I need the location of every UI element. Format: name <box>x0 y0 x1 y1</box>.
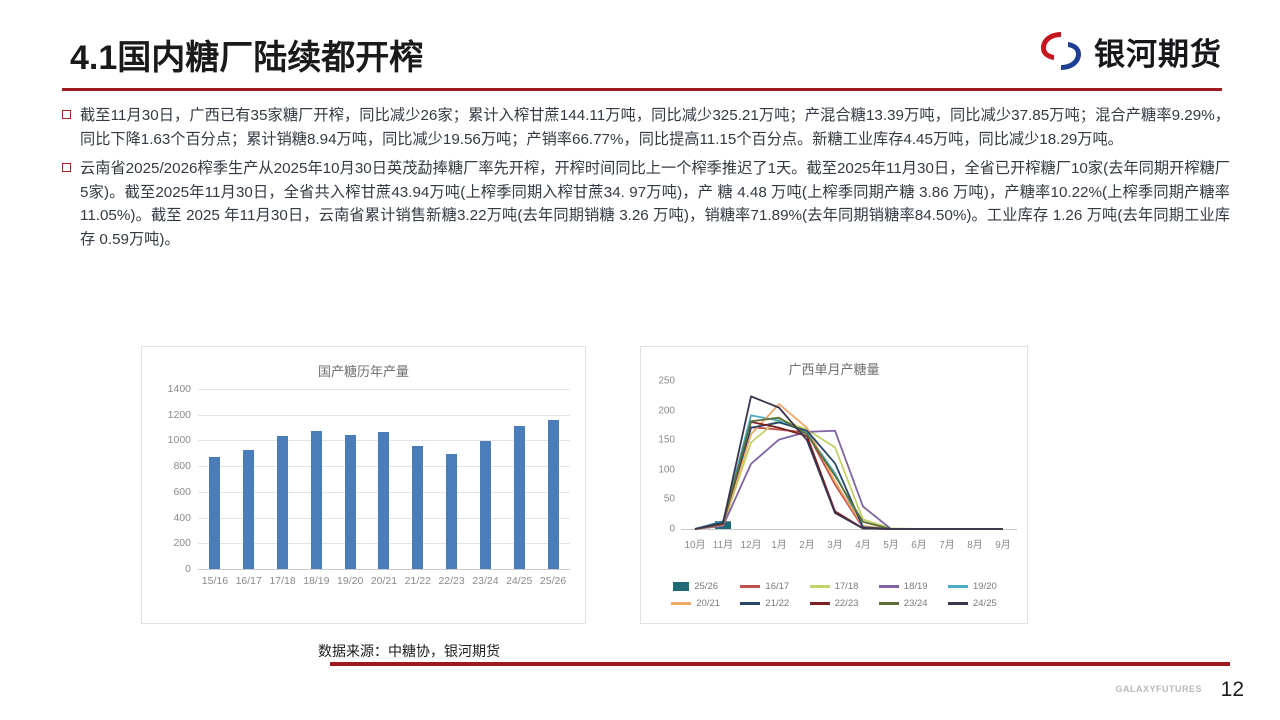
bullet-item: 截至11月30日，广西已有35家糖厂开榨，同比减少26家；累计入榨甘蔗144.1… <box>62 104 1230 151</box>
bar <box>378 432 389 569</box>
line-chart-plot-area: 050100150200250 10月11月12月1月2月3月4月5月6月7月8… <box>681 381 1017 529</box>
x-axis-tick-label: 18/19 <box>299 575 333 587</box>
y-axis-tick-label: 250 <box>658 376 675 387</box>
legend-swatch-icon <box>671 602 691 605</box>
bar-slot <box>469 389 503 569</box>
bar-slot <box>435 389 469 569</box>
slide-header: 4.1国内糖厂陆续都开榨 银河期货 <box>0 0 1280 92</box>
legend-item[interactable]: 18/19 <box>869 581 938 592</box>
bar-slot <box>367 389 401 569</box>
legend-item[interactable]: 19/20 <box>938 581 1007 592</box>
legend-swatch-icon <box>740 585 760 588</box>
y-axis-tick-label: 150 <box>658 435 675 446</box>
chart-legend: 25/2616/1717/1818/1919/2020/2121/2222/23… <box>661 581 1007 609</box>
bar <box>412 446 423 569</box>
x-axis-tick-label: 15/16 <box>198 575 232 587</box>
bar <box>277 436 288 569</box>
x-axis-tick-label: 21/22 <box>401 575 435 587</box>
legend-item[interactable]: 20/21 <box>661 598 730 609</box>
bullet-text: 截至11月30日，广西已有35家糖厂开榨，同比减少26家；累计入榨甘蔗144.1… <box>80 104 1230 151</box>
x-axis-labels: 10月11月12月1月2月3月4月5月6月7月8月9月 <box>681 536 1017 551</box>
x-axis-tick-label: 11月 <box>709 536 737 551</box>
bar <box>480 441 491 569</box>
legend-label: 20/21 <box>696 598 720 609</box>
chart-domestic-sugar-annual-output: 国产糖历年产量 0200400600800100012001400 15/161… <box>141 346 586 624</box>
legend-item[interactable]: 24/25 <box>938 598 1007 609</box>
bar-series <box>198 389 570 569</box>
bar-slot <box>266 389 300 569</box>
x-axis-tick-label: 19/20 <box>333 575 367 587</box>
x-axis-tick-label: 17/18 <box>266 575 300 587</box>
legend-label: 22/23 <box>835 598 859 609</box>
legend-item[interactable]: 22/23 <box>799 598 868 609</box>
legend-label: 25/26 <box>694 581 718 592</box>
legend-item[interactable]: 17/18 <box>799 581 868 592</box>
legend-item[interactable]: 25/26 <box>661 581 730 592</box>
x-axis-tick-label: 7月 <box>933 536 961 551</box>
legend-item[interactable]: 16/17 <box>730 581 799 592</box>
footer-divider <box>330 662 1230 666</box>
x-axis-tick-label: 3月 <box>821 536 849 551</box>
legend-swatch-icon <box>740 602 760 605</box>
x-axis-tick-label: 12月 <box>737 536 765 551</box>
bar-slot <box>502 389 536 569</box>
legend-swatch-icon <box>948 585 968 588</box>
line-series-18-19 <box>695 431 1003 529</box>
bar-slot <box>333 389 367 569</box>
bar <box>548 420 559 569</box>
bar <box>446 454 457 569</box>
square-bullet-icon <box>62 110 71 119</box>
bullet-item: 云南省2025/2026榨季生产从2025年10月30日英茂勐捧糖厂率先开榨，开… <box>62 157 1230 251</box>
square-bullet-icon <box>62 163 71 172</box>
x-axis-tick-label: 5月 <box>877 536 905 551</box>
bullet-text: 云南省2025/2026榨季生产从2025年10月30日英茂勐捧糖厂率先开榨，开… <box>80 157 1230 251</box>
x-axis-tick-label: 22/23 <box>435 575 469 587</box>
y-axis-tick-label: 0 <box>669 524 675 535</box>
bar <box>209 457 220 569</box>
y-axis-tick-label: 100 <box>658 464 675 475</box>
page-title: 4.1国内糖厂陆续都开榨 <box>70 30 423 79</box>
legend-swatch-icon <box>948 602 968 605</box>
y-axis-tick-label: 400 <box>173 512 191 524</box>
page-number: 12 <box>1221 678 1244 702</box>
legend-swatch-icon <box>810 602 830 605</box>
gridline: 0 <box>198 569 570 570</box>
chart-title: 广西单月产糖量 <box>641 359 1027 378</box>
line-series <box>681 381 1017 529</box>
legend-label: 24/25 <box>973 598 997 609</box>
legend-swatch-icon <box>879 585 899 588</box>
bar-slot <box>232 389 266 569</box>
bar-slot <box>299 389 333 569</box>
x-axis-tick-label: 9月 <box>989 536 1017 551</box>
header-divider <box>62 88 1222 91</box>
x-axis-tick-label: 23/24 <box>469 575 503 587</box>
y-axis-tick-label: 200 <box>173 537 191 549</box>
bar-slot <box>198 389 232 569</box>
y-axis-tick-label: 50 <box>664 494 675 505</box>
body-content: 截至11月30日，广西已有35家糖厂开榨，同比减少26家；累计入榨甘蔗144.1… <box>62 104 1230 257</box>
x-axis-tick-label: 1月 <box>765 536 793 551</box>
legend-label: 23/24 <box>904 598 928 609</box>
chart-title: 国产糖历年产量 <box>142 361 585 380</box>
x-axis-tick-label: 4月 <box>849 536 877 551</box>
brand-name: 银河期货 <box>1094 29 1222 74</box>
x-axis-tick-label: 20/21 <box>367 575 401 587</box>
bar-slot <box>401 389 435 569</box>
y-axis-tick-label: 1200 <box>168 409 191 421</box>
chart-guangxi-monthly-sugar-output: 广西单月产糖量 050100150200250 10月11月12月1月2月3月4… <box>640 346 1028 624</box>
x-axis-tick-label: 2月 <box>793 536 821 551</box>
x-axis-tick-label: 24/25 <box>502 575 536 587</box>
y-axis-tick-label: 1000 <box>168 434 191 446</box>
galaxy-futures-logo-icon <box>1038 28 1084 74</box>
x-axis-tick-label: 8月 <box>961 536 989 551</box>
legend-label: 19/20 <box>973 581 997 592</box>
legend-swatch-icon <box>673 582 689 591</box>
data-source-note: 数据来源：中糖协，银河期货 <box>318 641 500 661</box>
bar <box>514 426 525 569</box>
x-axis-labels: 15/1616/1717/1818/1919/2020/2121/2222/23… <box>198 575 570 587</box>
watermark-text: GALAXYFUTURES <box>1115 684 1202 694</box>
x-axis-tick-label: 6月 <box>905 536 933 551</box>
x-axis-tick-label: 10月 <box>681 536 709 551</box>
bar <box>311 431 322 569</box>
legend-swatch-icon <box>879 602 899 605</box>
legend-item[interactable]: 21/22 <box>730 598 799 609</box>
legend-label: 16/17 <box>765 581 789 592</box>
y-axis-tick-label: 200 <box>658 405 675 416</box>
legend-label: 18/19 <box>904 581 928 592</box>
bar-slot <box>536 389 570 569</box>
line-series-17-18 <box>695 419 1003 529</box>
bar <box>243 450 254 569</box>
legend-label: 17/18 <box>835 581 859 592</box>
y-axis-tick-label: 0 <box>185 563 191 575</box>
legend-item[interactable]: 23/24 <box>869 598 938 609</box>
y-axis-tick-label: 1400 <box>168 383 191 395</box>
x-axis-tick-label: 25/26 <box>536 575 570 587</box>
brand-logo: 银河期货 <box>1038 28 1222 74</box>
legend-label: 21/22 <box>765 598 789 609</box>
bar-chart-plot-area: 0200400600800100012001400 15/1616/1717/1… <box>198 389 570 569</box>
legend-swatch-icon <box>810 585 830 588</box>
y-axis-tick-label: 800 <box>173 460 191 472</box>
bar <box>345 435 356 569</box>
y-axis-tick-label: 600 <box>173 486 191 498</box>
x-axis-tick-label: 16/17 <box>232 575 266 587</box>
